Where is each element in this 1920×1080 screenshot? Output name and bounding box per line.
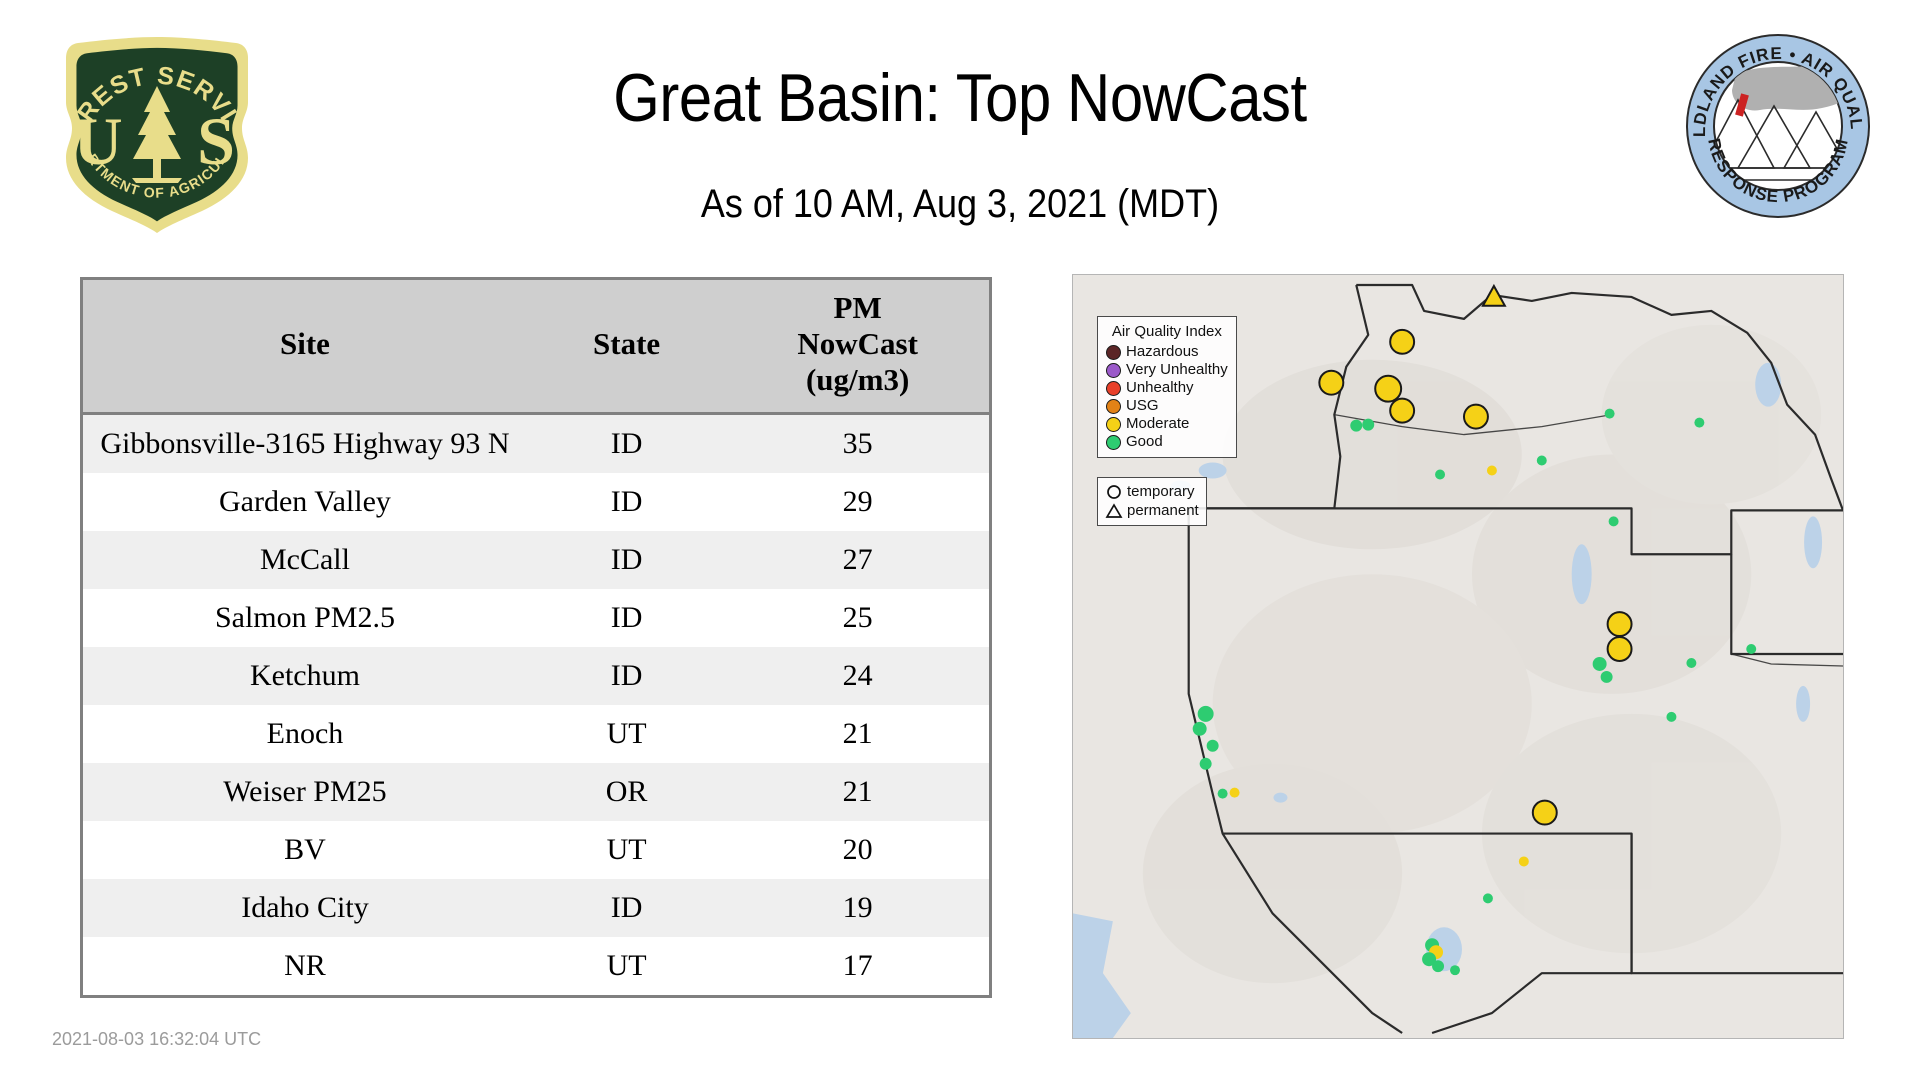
circle-icon xyxy=(1105,484,1123,500)
page-title: Great Basin: Top NowCast xyxy=(115,58,1805,138)
map-marker-temporary[interactable] xyxy=(1218,789,1228,799)
map-marker-temporary[interactable] xyxy=(1200,758,1212,770)
table-row: EnochUT21 xyxy=(83,705,989,763)
map-marker-temporary[interactable] xyxy=(1694,418,1704,428)
map-marker-temporary[interactable] xyxy=(1198,706,1214,722)
cell-state: OR xyxy=(527,763,726,821)
map-marker-temporary[interactable] xyxy=(1593,657,1607,671)
table-row: KetchumID24 xyxy=(83,647,989,705)
cell-state: ID xyxy=(527,879,726,937)
legend-row-permanent: permanent xyxy=(1105,501,1199,520)
map-marker-temporary[interactable] xyxy=(1435,469,1445,479)
map-marker-temporary[interactable] xyxy=(1350,420,1362,432)
cell-site: Ketchum xyxy=(83,647,527,705)
aqi-legend-label: Hazardous xyxy=(1126,343,1199,361)
map-marker-temporary[interactable] xyxy=(1537,456,1547,466)
aqi-legend-item: Very Unhealthy xyxy=(1106,361,1228,379)
table-header: Site State PM NowCast (ug/m3) xyxy=(83,280,989,414)
aqi-legend-label: Moderate xyxy=(1126,415,1189,433)
aqi-color-swatch xyxy=(1106,363,1121,378)
cell-state: ID xyxy=(527,589,726,647)
cell-pm-nowcast: 24 xyxy=(726,647,989,705)
map-marker-temporary[interactable] xyxy=(1686,658,1696,668)
map-marker-temporary[interactable] xyxy=(1487,466,1497,476)
map-marker-temporary[interactable] xyxy=(1519,856,1529,866)
map-marker-temporary[interactable] xyxy=(1193,722,1207,736)
map-marker-temporary[interactable] xyxy=(1432,960,1444,972)
map-marker-temporary[interactable] xyxy=(1746,644,1756,654)
map-marker-temporary[interactable] xyxy=(1375,376,1401,402)
map-marker-temporary[interactable] xyxy=(1601,671,1613,683)
cell-pm-nowcast: 25 xyxy=(726,589,989,647)
map-marker-temporary[interactable] xyxy=(1450,965,1460,975)
column-header-state: State xyxy=(527,280,726,414)
cell-site: NR xyxy=(83,937,527,995)
table-row: Garden ValleyID29 xyxy=(83,473,989,531)
map-marker-temporary[interactable] xyxy=(1207,740,1219,752)
cell-site: Salmon PM2.5 xyxy=(83,589,527,647)
map-marker-temporary[interactable] xyxy=(1608,612,1632,636)
aqi-legend-item: Unhealthy xyxy=(1106,379,1228,397)
column-header-line-1: PM xyxy=(730,290,985,326)
table-row: Weiser PM25OR21 xyxy=(83,763,989,821)
column-header-pm-nowcast: PM NowCast (ug/m3) xyxy=(726,280,989,414)
table-row: BVUT20 xyxy=(83,821,989,879)
cell-pm-nowcast: 35 xyxy=(726,414,989,474)
map-marker-temporary[interactable] xyxy=(1390,330,1414,354)
aqi-legend-item: Hazardous xyxy=(1106,343,1228,361)
cell-state: ID xyxy=(527,531,726,589)
aqi-color-swatch xyxy=(1106,399,1121,414)
map-marker-temporary[interactable] xyxy=(1390,399,1414,423)
cell-state: ID xyxy=(527,647,726,705)
aqi-legend-label: Very Unhealthy xyxy=(1126,361,1228,379)
map-marker-temporary[interactable] xyxy=(1230,788,1240,798)
cell-pm-nowcast: 17 xyxy=(726,937,989,995)
aqi-legend-label: Good xyxy=(1126,433,1163,451)
cell-pm-nowcast: 21 xyxy=(726,763,989,821)
map-marker-temporary[interactable] xyxy=(1533,801,1557,825)
table-body: Gibbonsville-3165 Highway 93 NID35Garden… xyxy=(83,414,989,996)
cell-state: UT xyxy=(527,937,726,995)
table-header-row: Site State PM NowCast (ug/m3) xyxy=(83,280,989,414)
footer-timestamp: 2021-08-03 16:32:04 UTC xyxy=(52,1029,261,1050)
column-header-line-3: (ug/m3) xyxy=(730,362,985,398)
column-header-line-2: NowCast xyxy=(730,326,985,362)
map-marker-temporary[interactable] xyxy=(1609,516,1619,526)
table-row: NRUT17 xyxy=(83,937,989,995)
triangle-icon xyxy=(1105,503,1123,519)
aqi-legend-label: Unhealthy xyxy=(1126,379,1194,397)
map-marker-temporary[interactable] xyxy=(1319,371,1343,395)
cell-site: Idaho City xyxy=(83,879,527,937)
cell-site: Enoch xyxy=(83,705,527,763)
cell-pm-nowcast: 20 xyxy=(726,821,989,879)
aqi-legend-title: Air Quality Index xyxy=(1106,322,1228,341)
map-marker-temporary[interactable] xyxy=(1605,409,1615,419)
cell-site: Garden Valley xyxy=(83,473,527,531)
legend-label-permanent: permanent xyxy=(1127,501,1199,520)
aqi-color-swatch xyxy=(1106,435,1121,450)
map-marker-temporary[interactable] xyxy=(1362,419,1374,431)
nowcast-table-panel: Site State PM NowCast (ug/m3) Gibbonsvil… xyxy=(80,277,992,998)
table-row: Salmon PM2.5ID25 xyxy=(83,589,989,647)
aqi-color-swatch xyxy=(1106,345,1121,360)
cell-pm-nowcast: 21 xyxy=(726,705,989,763)
table-row: Gibbonsville-3165 Highway 93 NID35 xyxy=(83,414,989,474)
cell-pm-nowcast: 19 xyxy=(726,879,989,937)
aqi-legend: Air Quality Index HazardousVery Unhealth… xyxy=(1097,316,1237,458)
cell-state: UT xyxy=(527,821,726,879)
aqi-legend-item: USG xyxy=(1106,397,1228,415)
aqi-legend-item: Moderate xyxy=(1106,415,1228,433)
cell-site: BV xyxy=(83,821,527,879)
aqi-color-swatch xyxy=(1106,417,1121,432)
column-header-site: Site xyxy=(83,280,527,414)
table-row: McCallID27 xyxy=(83,531,989,589)
aqi-legend-label: USG xyxy=(1126,397,1159,415)
legend-row-temporary: temporary xyxy=(1105,482,1199,501)
aqi-color-swatch xyxy=(1106,381,1121,396)
legend-label-temporary: temporary xyxy=(1127,482,1195,501)
map-marker-temporary[interactable] xyxy=(1608,637,1632,661)
cell-pm-nowcast: 29 xyxy=(726,473,989,531)
air-quality-map[interactable]: Air Quality Index HazardousVery Unhealth… xyxy=(1072,274,1844,1039)
cell-state: ID xyxy=(527,414,726,474)
cell-site: Gibbonsville-3165 Highway 93 N xyxy=(83,414,527,474)
cell-state: UT xyxy=(527,705,726,763)
cell-pm-nowcast: 27 xyxy=(726,531,989,589)
cell-site: McCall xyxy=(83,531,527,589)
site-type-legend: temporary permanent xyxy=(1097,477,1207,526)
map-marker-temporary[interactable] xyxy=(1483,893,1493,903)
cell-site: Weiser PM25 xyxy=(83,763,527,821)
nowcast-table: Site State PM NowCast (ug/m3) Gibbonsvil… xyxy=(83,280,989,995)
aqi-legend-item: Good xyxy=(1106,433,1228,451)
map-marker-temporary[interactable] xyxy=(1666,712,1676,722)
table-row: Idaho CityID19 xyxy=(83,879,989,937)
cell-state: ID xyxy=(527,473,726,531)
page-subtitle: As of 10 AM, Aug 3, 2021 (MDT) xyxy=(96,180,1824,228)
map-marker-temporary[interactable] xyxy=(1464,405,1488,429)
